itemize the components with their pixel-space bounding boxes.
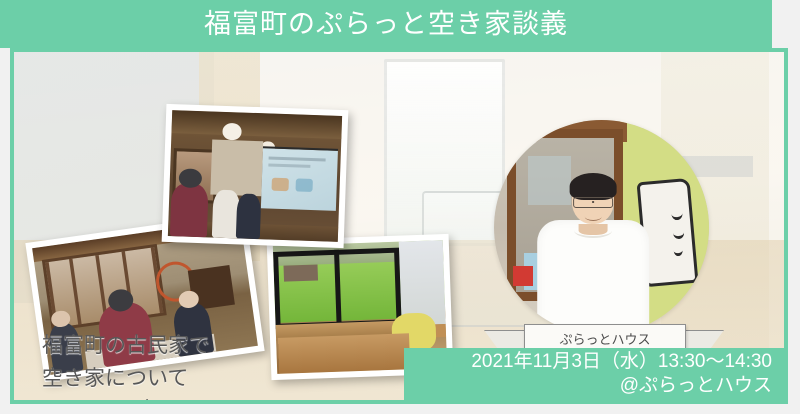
shirt-collar: [574, 224, 612, 239]
mascot-eye-icon: [673, 227, 684, 240]
catch-copy: 福富町の古民家で 空き家について ぷらっと考えてみませんか: [42, 330, 304, 404]
page-title: 福富町のぷらっと空き家談義: [204, 11, 568, 38]
event-datetime: 2021年11月3日（水）13:30〜14:30: [471, 350, 772, 374]
catch-copy-line-2: 空き家について: [42, 363, 304, 396]
slide-line: [268, 157, 325, 162]
title-band: 福富町のぷらっと空き家談義: [0, 0, 772, 48]
photo-presentation: [162, 104, 349, 248]
event-detail-band: 2021年11月3日（水）13:30〜14:30 @ぷらっとハウス: [404, 348, 786, 400]
poster-root: ぷらっとハウス 中嶋 直哉 福富町の古民家で 空き家について ぷらっと考えてみま…: [0, 0, 800, 414]
slide-block: [296, 178, 313, 192]
projection-screen: [261, 146, 338, 211]
catch-copy-line-1: 福富町の古民家で: [42, 330, 304, 363]
event-venue: @ぷらっとハウス: [620, 374, 772, 398]
ceiling-beam: [171, 110, 342, 139]
interior-wall: [210, 139, 263, 196]
mascot-mouth-icon: [673, 245, 682, 257]
speaker-portrait: [494, 120, 709, 335]
speaker-organization: ぷらっとハウス: [559, 333, 650, 348]
smile-mouth: [585, 212, 602, 221]
slide-line: [268, 164, 310, 168]
glasses-icon: [573, 197, 613, 209]
catch-copy-line-3: ぷらっと考えてみませんか: [42, 395, 304, 404]
pendant-lamp: [222, 123, 241, 140]
red-sign: [513, 266, 532, 285]
portrait-background: [494, 120, 709, 335]
photo-presentation-image: [168, 110, 342, 242]
speaker-figure: [537, 176, 649, 335]
person-figure: [170, 183, 209, 237]
slide-block: [272, 177, 289, 191]
poster-frame: ぷらっとハウス 中嶋 直哉 福富町の古民家で 空き家について ぷらっと考えてみま…: [10, 48, 788, 404]
person-figure: [236, 193, 261, 239]
mascot-eye-icon: [671, 208, 682, 221]
